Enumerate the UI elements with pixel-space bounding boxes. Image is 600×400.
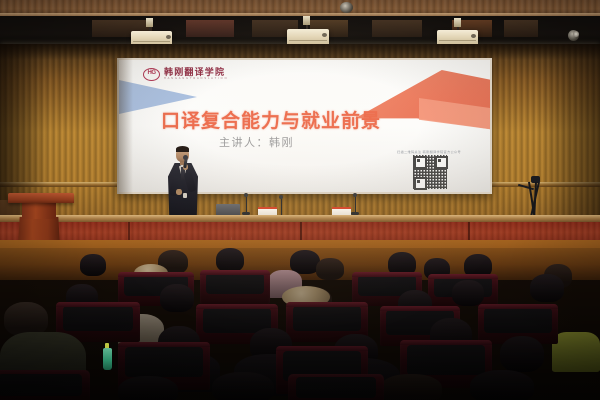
logo-chinese-name: 韩刚翻译学院 [164, 67, 227, 77]
presenter-badge [183, 193, 187, 198]
seat-top-rail [478, 304, 558, 309]
presenter-hair [176, 146, 189, 152]
logo-english-name: H A N G A N G T R A N S L A T I O N [164, 77, 227, 81]
projector-lens-icon [471, 34, 476, 38]
audience-head [470, 370, 534, 400]
audience-head [500, 336, 544, 372]
slide-logo: HG 韩刚翻译学院 H A N G A N G T R A N S L A T … [143, 67, 227, 81]
projector-lens-icon [166, 35, 171, 39]
seat-top-rail [276, 346, 368, 351]
seat-top-rail [56, 302, 140, 307]
seat-top-rail [400, 340, 492, 345]
slide-subtitle: 主讲人：韩刚 [219, 134, 294, 150]
beam-recess [504, 20, 538, 37]
slide-caption: 扫描二维码关注 韩刚翻译学院官方公众号 [397, 149, 461, 154]
yellow-jacket [552, 332, 600, 372]
table-microphone-head-icon [244, 193, 248, 197]
table-microphone-head-icon [279, 195, 283, 199]
table-microphone-head-icon [353, 193, 357, 197]
projector-lens-icon [322, 33, 327, 37]
audience-head [212, 372, 274, 400]
lectern-neck [22, 203, 56, 219]
table-microphone-stand [281, 198, 282, 215]
ceiling-light-icon [573, 31, 579, 37]
projector-mount [303, 16, 310, 25]
audience-head [530, 274, 564, 302]
slide-title: 口译复合能力与就业前景 [161, 106, 381, 133]
audience-head [316, 258, 344, 280]
audience-head [160, 284, 194, 312]
seat-top-rail [118, 272, 194, 277]
seat-top-rail [352, 272, 422, 277]
audience-head [80, 254, 106, 276]
projector-vent [439, 40, 476, 41]
ceiling-speaker-icon [340, 2, 353, 13]
audience-head [380, 374, 442, 400]
seat-top-rail [428, 274, 498, 279]
audience-area [0, 248, 600, 400]
screen-edge-shadow [117, 58, 133, 194]
auditorium-seat [288, 374, 384, 400]
lecture-hall-photo: HG 韩刚翻译学院 H A N G A N G T R A N S L A T … [0, 0, 600, 400]
presenter-hand [176, 189, 182, 195]
audience-head [452, 280, 484, 306]
audience-head [118, 376, 178, 400]
audience-head [216, 248, 244, 272]
seat-top-rail [200, 270, 270, 275]
green-water-bottle [103, 348, 112, 370]
beam-recess [372, 20, 422, 37]
projector-mount [454, 18, 461, 27]
projector-vent [289, 40, 327, 41]
wall-shadow-right [540, 44, 600, 240]
qr-code [413, 155, 447, 189]
logo-mark-icon: HG [143, 68, 160, 81]
seat-top-rail [380, 306, 460, 311]
audience-head [4, 302, 48, 336]
auditorium-seat [0, 370, 90, 400]
lectern-top [8, 193, 74, 203]
projector-vent [133, 41, 170, 42]
seat-top-rail [196, 304, 278, 309]
seat-top-rail [118, 342, 210, 347]
seat-top-rail [286, 302, 368, 307]
microphone-head-icon [183, 155, 188, 160]
beam-recess [186, 20, 234, 37]
projector-mount [146, 18, 153, 27]
auditorium-seat [200, 270, 270, 304]
